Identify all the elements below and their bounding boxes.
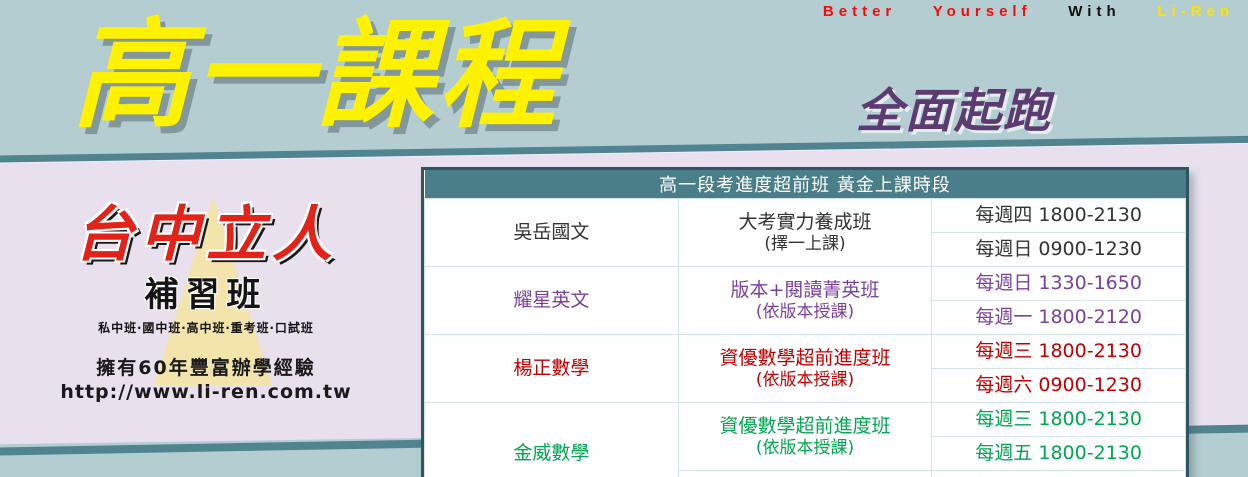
table-row: 吳岳國文大考實力養成班(擇一上課)每週四 1800-2130 — [425, 199, 1186, 233]
logo-brand-type: 補習班 — [36, 267, 376, 316]
table-header-row: 高一段考進度超前班 黃金上課時段 — [425, 170, 1186, 199]
logo-website-url[interactable]: http://www.li-ren.com.tw — [36, 381, 376, 403]
course-note: (依版本授課) — [683, 438, 928, 458]
schedule-table-head: 高一段考進度超前班 黃金上課時段 — [425, 170, 1186, 199]
cell-time: 每週三 1815-2130 — [932, 471, 1186, 477]
cell-time: 每週一 1800-2120 — [932, 301, 1186, 335]
cell-course: 大考實力養成班(擇一上課) — [678, 199, 932, 267]
cell-teacher: 金威數學 — [425, 403, 679, 477]
cell-time: 每週三 1800-2130 — [932, 335, 1186, 369]
cell-teacher: 吳岳國文 — [425, 199, 679, 267]
cell-course: 版本+閱讀菁英班(依版本授課) — [678, 267, 932, 335]
tagline-word-better: Better — [823, 3, 896, 20]
logo-block: 台中立人 補習班 私中班‧國中班‧高中班‧重考班‧口試班 擁有60年豐富辦學經驗… — [36, 205, 376, 403]
table-row: 楊正數學資優數學超前進度班(依版本授課)每週三 1800-2130 — [425, 335, 1186, 369]
cell-teacher: 楊正數學 — [425, 335, 679, 403]
cell-course: 資優數學超前進度班(依版本授課) — [678, 403, 932, 471]
page-subtitle: 全面起跑 — [856, 72, 1052, 141]
cell-time: 每週四 1800-2130 — [932, 199, 1186, 233]
course-note: (依版本授課) — [683, 302, 928, 322]
page-title: 高一課程 — [72, 14, 560, 138]
poster-canvas: Better Yourself With Li-Ren 高一課程 全面起跑 台中… — [0, 0, 1248, 477]
cell-course: 明道數學專班 — [678, 471, 932, 477]
cell-time: 每週日 0900-1230 — [932, 233, 1186, 267]
cell-time: 每週日 1330-1650 — [932, 267, 1186, 301]
logo-class-list: 私中班‧國中班‧高中班‧重考班‧口試班 — [36, 319, 376, 336]
course-note: (擇一上課) — [683, 234, 928, 254]
tagline-word-yourself: Yourself — [933, 3, 1032, 20]
schedule-table: 高一段考進度超前班 黃金上課時段 吳岳國文大考實力養成班(擇一上課)每週四 18… — [424, 170, 1186, 477]
schedule-table-body: 吳岳國文大考實力養成班(擇一上課)每週四 1800-2130每週日 0900-1… — [425, 199, 1186, 477]
course-name: 資優數學超前進度班 — [719, 415, 890, 437]
table-row: 耀星英文版本+閱讀菁英班(依版本授課)每週日 1330-1650 — [425, 267, 1186, 301]
table-row: 金威數學資優數學超前進度班(依版本授課)每週三 1800-2130 — [425, 403, 1186, 437]
schedule-table-card: 高一段考進度超前班 黃金上課時段 吳岳國文大考實力養成班(擇一上課)每週四 18… — [421, 167, 1189, 477]
tagline-word-liren: Li-Ren — [1157, 3, 1234, 20]
cell-time: 每週三 1800-2130 — [932, 403, 1186, 437]
course-note: (依版本授課) — [683, 370, 928, 390]
cell-teacher: 耀星英文 — [425, 267, 679, 335]
cell-time: 每週五 1800-2130 — [932, 437, 1186, 471]
course-name: 資優數學超前進度班 — [719, 347, 890, 369]
course-name: 版本+閱讀菁英班 — [731, 279, 880, 301]
course-name: 大考實力養成班 — [738, 211, 871, 233]
table-header-title: 高一段考進度超前班 黃金上課時段 — [425, 170, 1186, 199]
logo-experience-text: 擁有60年豐富辦學經驗 — [36, 353, 376, 380]
cell-course: 資優數學超前進度班(依版本授課) — [678, 335, 932, 403]
logo-brand-name: 台中立人 — [36, 205, 376, 265]
cell-time: 每週六 0900-1230 — [932, 369, 1186, 403]
tagline-word-with: With — [1068, 3, 1120, 20]
